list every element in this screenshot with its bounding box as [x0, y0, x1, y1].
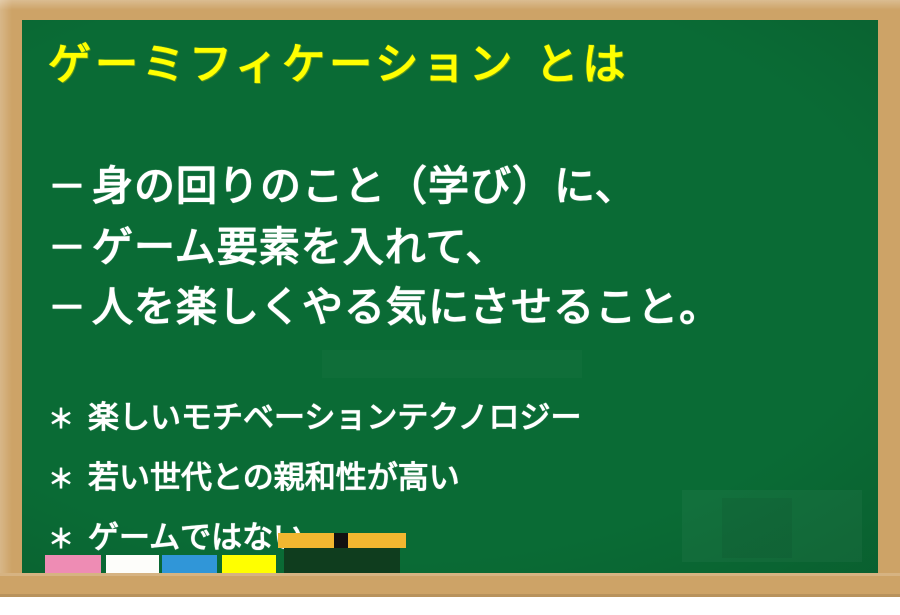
- board-text-layer: ゲーミフィケーション とは － 身の回りのこと（学び）に、 － ゲーム要素を入れ…: [22, 20, 878, 573]
- chalkboard-surface[interactable]: ゲーミフィケーション とは － 身の回りのこと（学び）に、 － ゲーム要素を入れ…: [22, 20, 878, 573]
- definition-line-1-text: 身の回りのこと（学び）に、: [92, 152, 637, 212]
- definition-line-2-text: ゲーム要素を入れて、: [92, 213, 508, 273]
- asterisk-marker-icon: ＊: [48, 519, 88, 556]
- note-line-2: ＊ 若い世代との親和性が高い: [48, 452, 460, 497]
- definition-line-3: － 人を楽しくやる気にさせること。: [48, 273, 721, 333]
- slide-title: ゲーミフィケーション とは: [48, 30, 629, 92]
- ledge-highlight: [0, 573, 900, 576]
- dash-marker-icon: －: [48, 156, 92, 211]
- ledge-shadow: [0, 594, 900, 597]
- note-line-1-text: 楽しいモチベーションテクノロジー: [88, 392, 582, 437]
- note-line-3-text: ゲームではない: [88, 512, 304, 557]
- chalk-ledge: [0, 573, 900, 597]
- dash-marker-icon: －: [48, 277, 92, 332]
- chalk-white[interactable]: [106, 555, 159, 573]
- definition-line-1: － 身の回りのこと（学び）に、: [48, 152, 637, 212]
- eraser-felt: [284, 548, 400, 573]
- blackboard-eraser[interactable]: [278, 533, 406, 573]
- slide-canvas: ゲーミフィケーション とは － 身の回りのこと（学び）に、 － ゲーム要素を入れ…: [0, 0, 900, 615]
- definition-line-3-text: 人を楽しくやる気にさせること。: [92, 273, 721, 333]
- note-line-3: ＊ ゲームではない: [48, 512, 304, 557]
- note-line-1: ＊ 楽しいモチベーションテクノロジー: [48, 392, 582, 437]
- definition-line-2: － ゲーム要素を入れて、: [48, 213, 508, 273]
- asterisk-marker-icon: ＊: [48, 459, 88, 496]
- asterisk-marker-icon: ＊: [48, 399, 88, 436]
- eraser-band: [334, 533, 348, 548]
- dash-marker-icon: －: [48, 217, 92, 272]
- chalk-blue[interactable]: [162, 555, 217, 573]
- chalk-yellow[interactable]: [222, 555, 276, 573]
- chalk-pink[interactable]: [45, 555, 101, 573]
- note-line-2-text: 若い世代との親和性が高い: [88, 452, 460, 497]
